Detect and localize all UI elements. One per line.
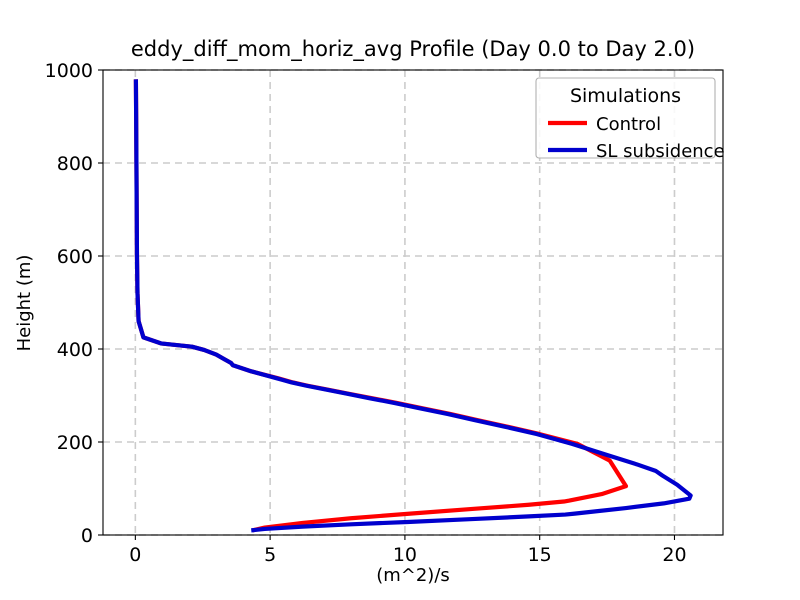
profile-plot: 0510152002004006008001000 eddy_diff_mom_… <box>0 0 800 600</box>
legend[interactable]: SimulationsControlSL subsidence <box>536 78 725 162</box>
y-tick-label: 200 <box>57 432 93 454</box>
y-tick-label: 0 <box>81 525 93 547</box>
x-tick-label: 20 <box>662 544 686 566</box>
y-tick-label: 800 <box>57 153 93 175</box>
x-axis-title: (m^2)/s <box>376 565 450 586</box>
y-axis-title: Height (m) <box>14 255 35 352</box>
legend-title: Simulations <box>570 85 681 107</box>
y-tick-label: 400 <box>57 339 93 361</box>
chart-title: eddy_diff_mom_horiz_avg Profile (Day 0.0… <box>131 37 695 62</box>
x-tick-label: 0 <box>129 544 141 566</box>
x-tick-label: 10 <box>393 544 417 566</box>
y-tick-label: 1000 <box>45 60 93 82</box>
x-tick-label: 15 <box>528 544 552 566</box>
y-tick-label: 600 <box>57 246 93 268</box>
legend-label-control[interactable]: Control <box>596 114 661 135</box>
legend-label-sl-subsidence[interactable]: SL subsidence <box>596 141 725 162</box>
chart-figure: 0510152002004006008001000 eddy_diff_mom_… <box>0 0 800 600</box>
x-tick-label: 5 <box>264 544 276 566</box>
